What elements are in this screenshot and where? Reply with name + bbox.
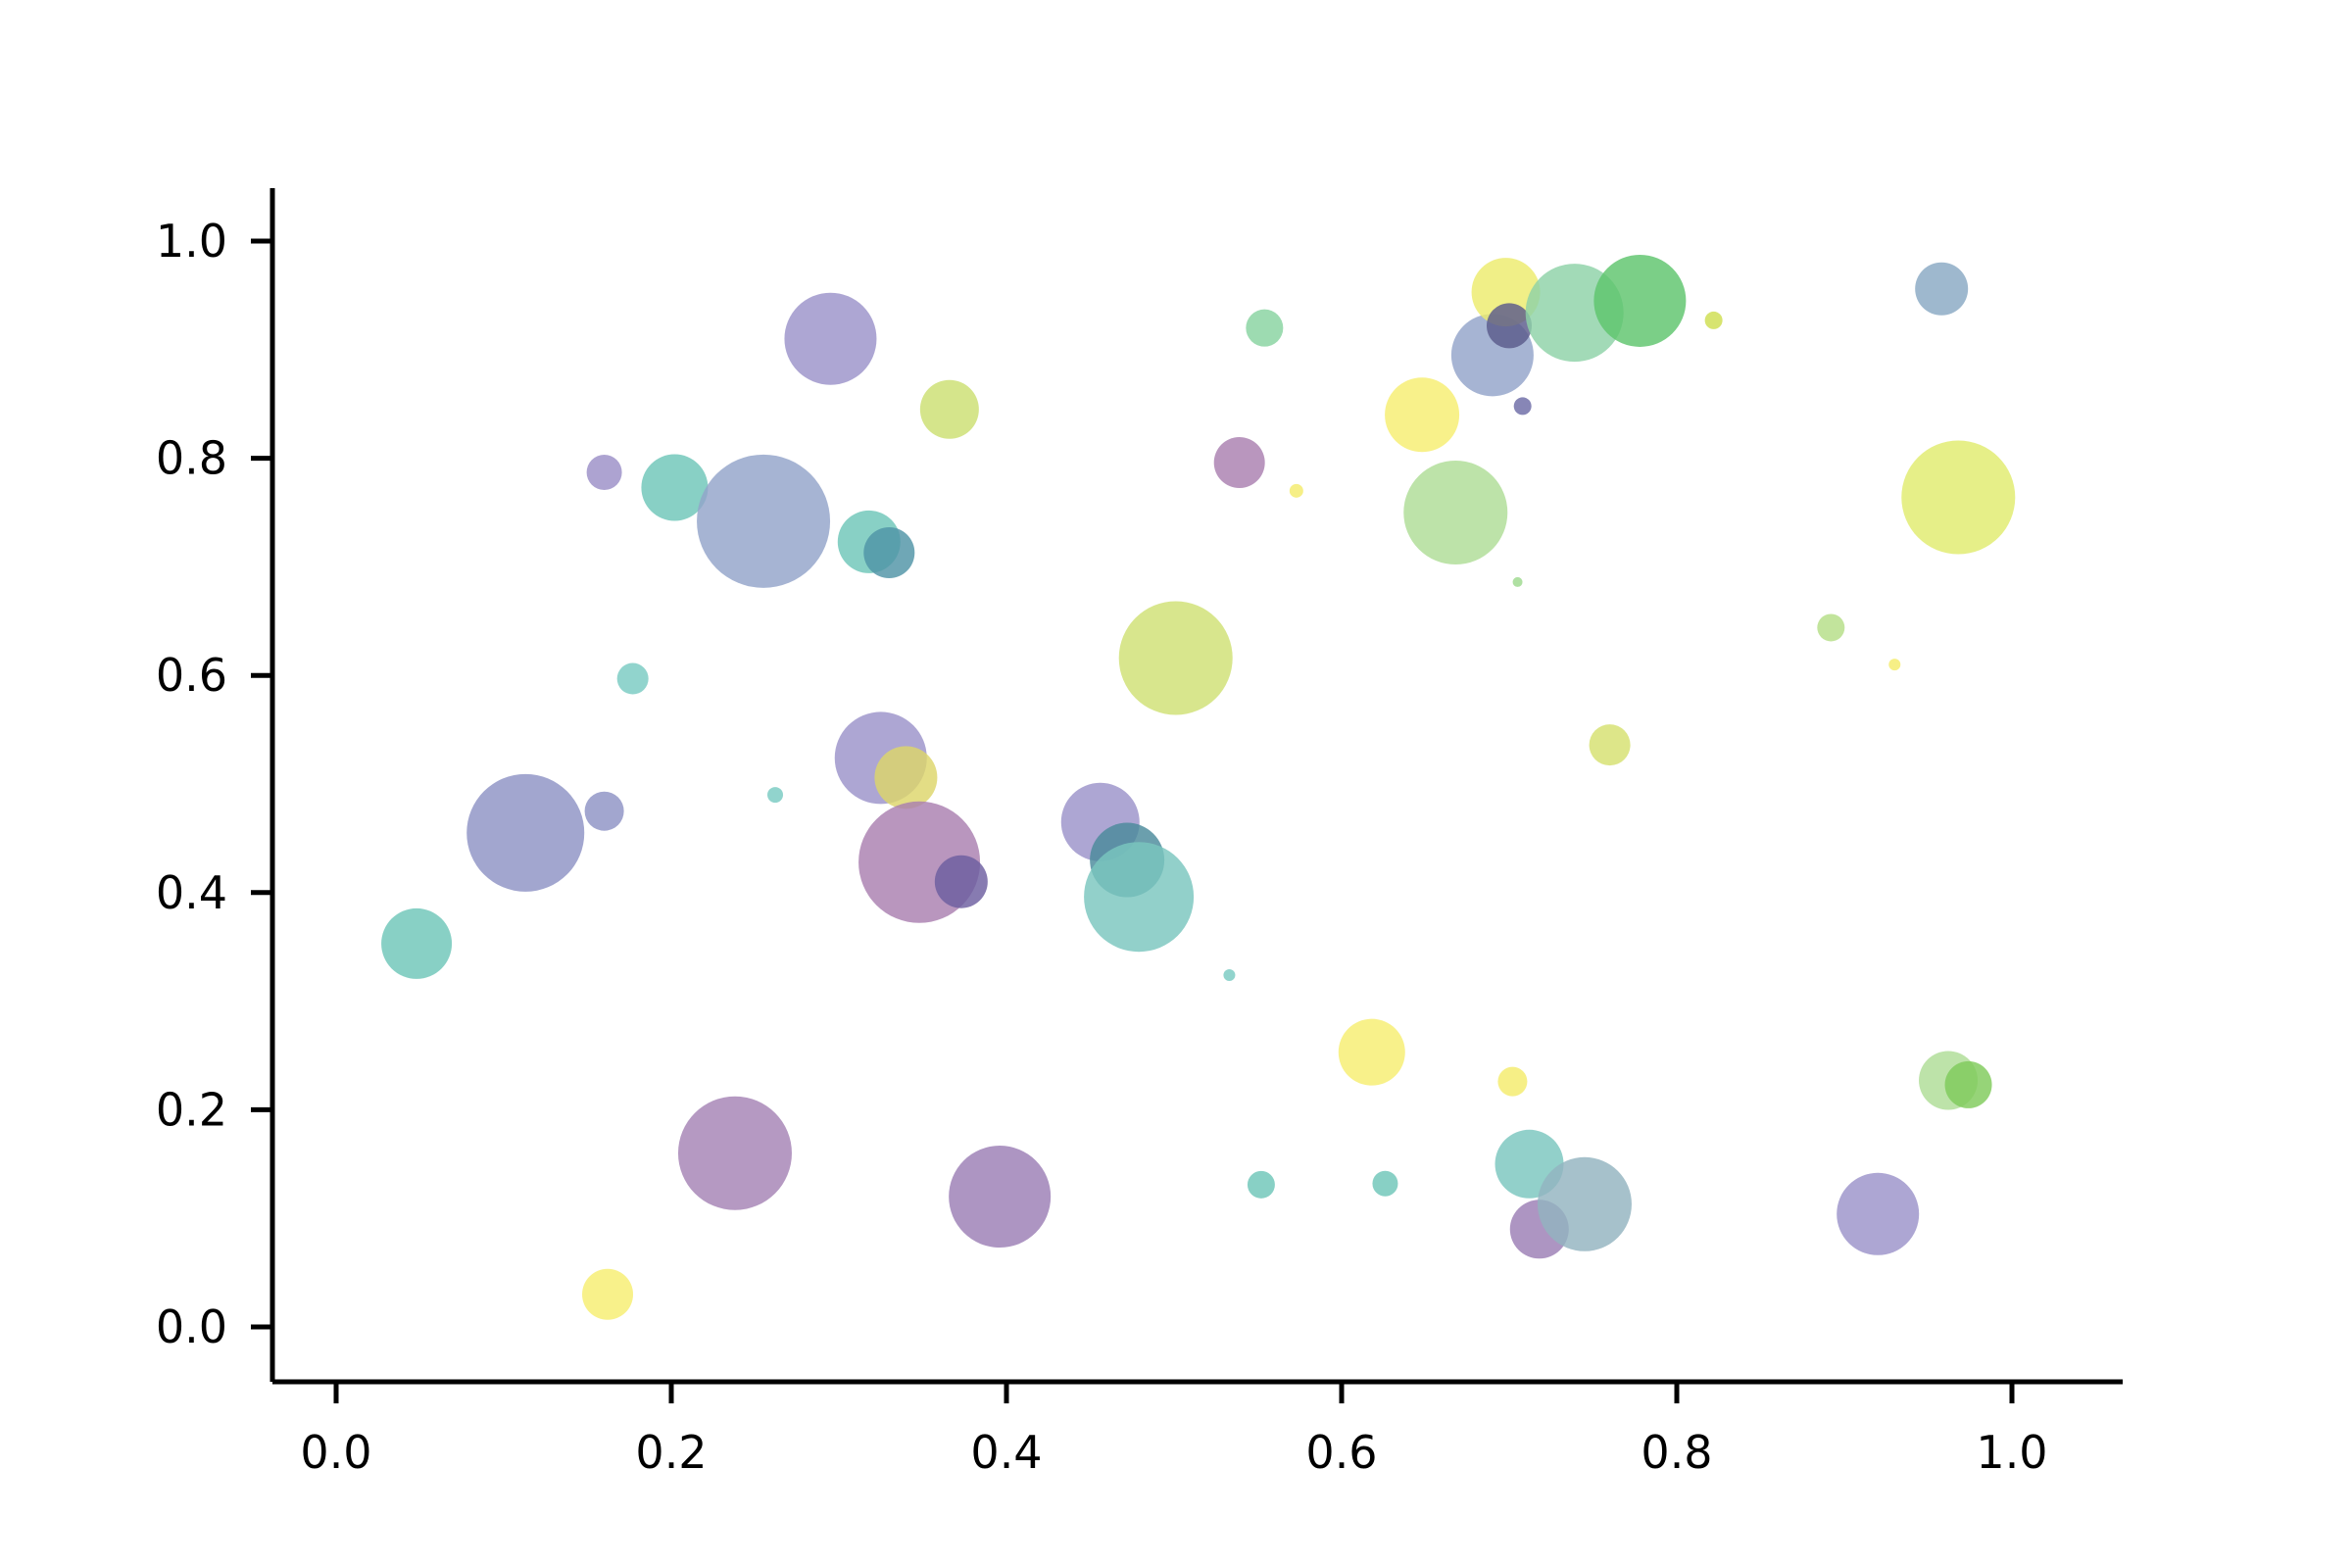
- y-tick-label: 0.4: [156, 866, 227, 919]
- x-tick-label: 0.2: [635, 1426, 707, 1479]
- x-tick-label: 1.0: [1976, 1426, 2047, 1479]
- bubble-point[interactable]: [678, 1097, 792, 1210]
- bubble-point[interactable]: [1945, 1061, 1992, 1108]
- y-axis-ticks: 0.00.20.40.60.81.0: [156, 215, 272, 1353]
- bubble-point[interactable]: [1817, 613, 1844, 641]
- bubble-point[interactable]: [920, 380, 979, 439]
- bubble-point[interactable]: [1248, 1171, 1275, 1199]
- bubble-point[interactable]: [697, 455, 830, 588]
- bubble-point[interactable]: [1385, 377, 1459, 452]
- bubble-point[interactable]: [1223, 969, 1235, 981]
- bubble-point[interactable]: [1915, 263, 1968, 316]
- bubble-point[interactable]: [1538, 1157, 1632, 1251]
- y-tick-label: 0.0: [156, 1300, 227, 1353]
- bubble-point[interactable]: [1497, 1067, 1527, 1097]
- bubble-point[interactable]: [1514, 397, 1532, 415]
- bubble-point[interactable]: [767, 787, 783, 803]
- y-tick-label: 0.6: [156, 649, 227, 702]
- x-tick-label: 0.4: [970, 1426, 1042, 1479]
- bubble-point[interactable]: [863, 527, 914, 578]
- bubble-point[interactable]: [585, 792, 624, 831]
- scatter-plot[interactable]: 0.00.20.40.60.81.0 0.00.20.40.60.81.0: [0, 0, 2352, 1568]
- bubble-point[interactable]: [617, 663, 649, 695]
- bubble-point[interactable]: [1246, 310, 1283, 347]
- bubble-point[interactable]: [949, 1146, 1051, 1248]
- bubble-point[interactable]: [1487, 303, 1532, 348]
- bubble-point[interactable]: [1888, 659, 1900, 670]
- y-tick-label: 0.8: [156, 432, 227, 485]
- bubble-point[interactable]: [1593, 255, 1686, 347]
- y-tick-label: 1.0: [156, 215, 227, 268]
- bubble-point[interactable]: [935, 856, 988, 908]
- bubble-point[interactable]: [1372, 1171, 1397, 1197]
- bubble-point[interactable]: [1705, 312, 1723, 329]
- bubble-point[interactable]: [1084, 842, 1194, 952]
- bubble-point[interactable]: [1901, 440, 2015, 554]
- bubble-point[interactable]: [1590, 724, 1631, 765]
- x-axis-ticks: 0.00.20.40.60.81.0: [300, 1382, 2047, 1479]
- x-tick-label: 0.8: [1641, 1426, 1712, 1479]
- bubble-point[interactable]: [587, 455, 622, 490]
- bubble-series: [381, 255, 2015, 1320]
- bubble-point[interactable]: [1339, 1019, 1405, 1086]
- y-tick-label: 0.2: [156, 1083, 227, 1136]
- x-tick-label: 0.0: [300, 1426, 371, 1479]
- bubble-point[interactable]: [1290, 484, 1303, 498]
- bubble-point[interactable]: [1837, 1173, 1919, 1255]
- figure-canvas: 0.00.20.40.60.81.0 0.00.20.40.60.81.0: [0, 0, 2352, 1568]
- bubble-point[interactable]: [1403, 461, 1507, 564]
- bubble-point[interactable]: [874, 746, 937, 808]
- bubble-point[interactable]: [1214, 437, 1265, 488]
- bubble-point[interactable]: [1119, 601, 1233, 714]
- x-tick-label: 0.6: [1305, 1426, 1377, 1479]
- bubble-point[interactable]: [784, 293, 876, 385]
- bubble-point[interactable]: [466, 774, 584, 892]
- bubble-point[interactable]: [1513, 577, 1523, 587]
- bubble-point[interactable]: [381, 908, 452, 979]
- bubble-point[interactable]: [582, 1269, 633, 1320]
